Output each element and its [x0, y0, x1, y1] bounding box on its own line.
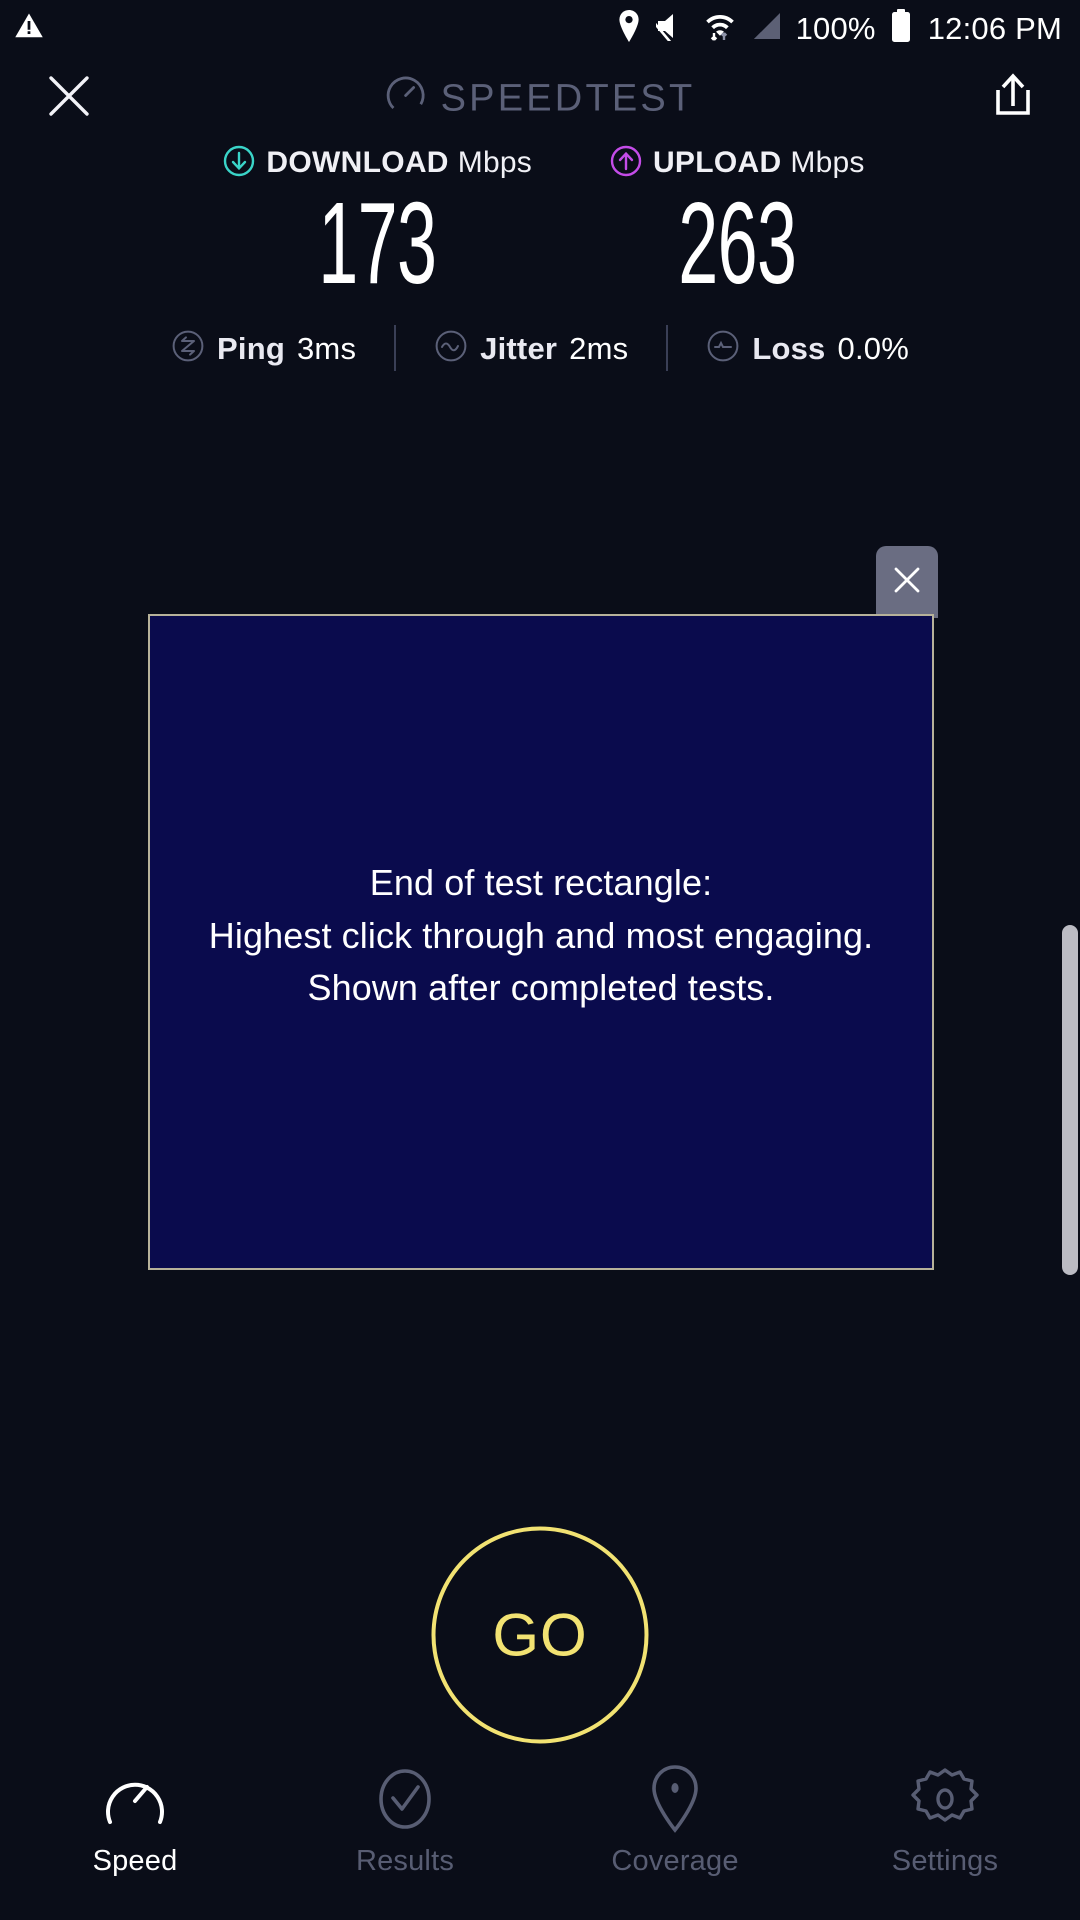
status-bar-right: 100% 12:06 PM	[616, 9, 1062, 48]
loss-value: 0.0%	[838, 333, 909, 364]
close-x-icon	[44, 71, 94, 126]
download-metric: DOWNLOAD Mbps 173	[223, 146, 532, 302]
location-pin-icon	[648, 1763, 702, 1835]
download-label: DOWNLOAD Mbps	[223, 146, 532, 180]
nav-label-coverage: Coverage	[611, 1847, 738, 1876]
ping-name: Ping	[217, 333, 285, 364]
download-title: DOWNLOAD	[266, 148, 448, 178]
ad-close-x-icon	[890, 563, 924, 602]
check-circle-icon	[374, 1763, 436, 1835]
warning-triangle-icon	[14, 11, 44, 46]
location-pin-icon	[616, 10, 642, 47]
detail-divider-1	[394, 325, 396, 371]
share-button[interactable]	[982, 67, 1044, 129]
ad-text: End of test rectangle: Highest click thr…	[209, 857, 873, 1016]
jitter-metric: Jitter 2ms	[430, 329, 632, 368]
nav-item-results[interactable]: Results	[270, 1745, 540, 1920]
loss-metric: Loss 0.0%	[702, 329, 913, 368]
upload-value: 263	[658, 184, 816, 302]
advertisement[interactable]: End of test rectangle: Highest click thr…	[148, 614, 934, 1270]
download-value: 173	[282, 184, 473, 302]
results-panel: DOWNLOAD Mbps 173 UPLOAD Mbps 263	[0, 146, 1080, 378]
bottom-navigation: Speed Results Coverage	[0, 1745, 1080, 1920]
nav-item-coverage[interactable]: Coverage	[540, 1745, 810, 1920]
nav-item-settings[interactable]: Settings	[810, 1745, 1080, 1920]
ping-value: 3ms	[297, 333, 356, 364]
nav-label-settings: Settings	[892, 1847, 998, 1876]
battery-full-icon	[890, 9, 912, 48]
ping-metric: Ping 3ms	[167, 329, 360, 368]
nav-label-results: Results	[356, 1847, 454, 1876]
speed-metrics-row: DOWNLOAD Mbps 173 UPLOAD Mbps 263	[0, 146, 1080, 302]
go-button-label: GO	[492, 1605, 587, 1665]
nav-item-speed[interactable]: Speed	[0, 1745, 270, 1920]
gear-icon	[911, 1763, 979, 1835]
app-header: SPEEDTEST	[0, 56, 1080, 140]
ad-close-button[interactable]	[876, 546, 938, 618]
jitter-name: Jitter	[480, 333, 557, 364]
cellular-signal-icon	[750, 11, 782, 46]
upload-unit: Mbps	[790, 148, 864, 178]
clock-label: 12:06 PM	[928, 13, 1062, 44]
ping-icon	[171, 329, 205, 368]
wifi-transfer-icon	[704, 9, 736, 48]
status-bar: 100% 12:06 PM	[0, 0, 1080, 56]
speedtest-gauge-icon	[385, 75, 427, 122]
arrow-up-circle-icon	[610, 145, 642, 182]
arrow-down-circle-icon	[223, 145, 255, 182]
close-button[interactable]	[38, 67, 100, 129]
download-unit: Mbps	[458, 148, 532, 178]
nav-label-speed: Speed	[93, 1847, 178, 1876]
vertical-scrollbar[interactable]	[1062, 925, 1078, 1275]
upload-metric: UPLOAD Mbps 263	[610, 146, 865, 302]
loss-icon	[706, 329, 740, 368]
speedtest-app-screen: 100% 12:06 PM	[0, 0, 1080, 1920]
jitter-value: 2ms	[569, 333, 628, 364]
battery-percent-label: 100%	[796, 13, 876, 44]
go-button[interactable]: GO	[432, 1527, 649, 1744]
speedometer-icon	[102, 1763, 168, 1835]
loss-name: Loss	[752, 333, 825, 364]
share-upload-icon	[990, 72, 1036, 125]
upload-title: UPLOAD	[653, 148, 781, 178]
jitter-icon	[434, 329, 468, 368]
upload-label: UPLOAD Mbps	[610, 146, 865, 180]
volume-mute-icon	[656, 11, 690, 46]
ad-banner[interactable]: End of test rectangle: Highest click thr…	[148, 614, 934, 1270]
brand: SPEEDTEST	[385, 75, 696, 122]
brand-label: SPEEDTEST	[441, 79, 696, 117]
status-bar-left	[14, 11, 44, 46]
detail-divider-2	[666, 325, 668, 371]
connection-detail-row: Ping 3ms Jitter 2ms	[0, 318, 1080, 378]
